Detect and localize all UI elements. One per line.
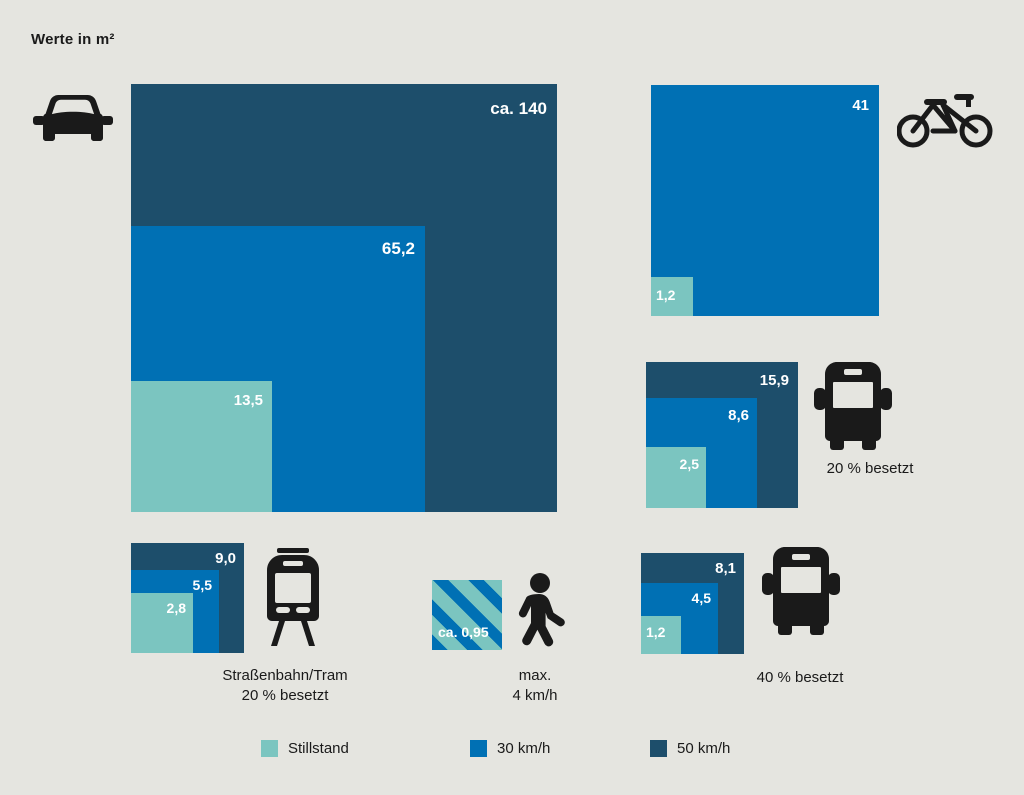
bicycle-label-stillstand: 1,2 <box>656 288 675 302</box>
car-square-stillstand: 13,5 <box>131 381 272 512</box>
pedestrian-caption: max. 4 km/h <box>445 666 625 707</box>
legend-label-30kmh: 30 km/h <box>497 740 550 757</box>
tram-label-stillstand: 2,8 <box>167 601 186 615</box>
bus40-label-50kmh: 8,1 <box>715 561 736 576</box>
legend: Stillstand 30 km/h 50 km/h <box>0 740 1024 762</box>
tram-label-30kmh: 5,5 <box>193 578 212 592</box>
bus20-caption: 20 % besetzt <box>755 459 985 479</box>
bicycle-icon <box>897 88 993 150</box>
legend-swatch-30kmh <box>470 740 487 757</box>
bus40-label-stillstand: 1,2 <box>646 625 665 639</box>
tram-icon <box>257 548 329 648</box>
bus40-caption: 40 % besetzt <box>690 668 910 688</box>
tram-square-stillstand: 2,8 <box>131 593 193 653</box>
legend-swatch-stillstand <box>261 740 278 757</box>
legend-item-30kmh[interactable]: 30 km/h <box>470 740 550 757</box>
bus20-label-30kmh: 8,6 <box>728 408 749 423</box>
car-label-30kmh: 65,2 <box>382 240 415 257</box>
bicycle-square-stillstand: 1,2 <box>651 277 693 316</box>
legend-label-stillstand: Stillstand <box>288 740 349 757</box>
legend-item-stillstand[interactable]: Stillstand <box>261 740 349 757</box>
tram-caption: Straßenbahn/Tram 20 % besetzt <box>165 666 405 707</box>
legend-label-50kmh: 50 km/h <box>677 740 730 757</box>
page-title: Werte in m² <box>31 31 115 48</box>
tram-label-50kmh: 9,0 <box>215 551 236 566</box>
bus-icon-20 <box>811 362 895 452</box>
legend-item-50kmh[interactable]: 50 km/h <box>650 740 730 757</box>
infographic-canvas: Werte in m² ca. 140 65,2 13,5 <box>0 0 1024 795</box>
bus20-square-stillstand: 2,5 <box>646 447 706 508</box>
bus20-label-50kmh: 15,9 <box>760 373 789 388</box>
bicycle-label-30kmh: 41 <box>852 98 869 113</box>
bus-icon-40 <box>759 547 843 637</box>
car-label-stillstand: 13,5 <box>234 393 263 408</box>
bus40-label-30kmh: 4,5 <box>692 591 711 605</box>
bus20-label-stillstand: 2,5 <box>680 457 699 471</box>
car-label-50kmh: ca. 140 <box>490 100 547 117</box>
pedestrian-icon <box>513 573 571 651</box>
bus40-square-stillstand: 1,2 <box>641 616 681 654</box>
pedestrian-label-stillstand: ca. 0,95 <box>438 625 489 639</box>
pedestrian-square-stillstand: ca. 0,95 <box>432 580 502 650</box>
car-icon <box>31 90 115 152</box>
legend-swatch-50kmh <box>650 740 667 757</box>
